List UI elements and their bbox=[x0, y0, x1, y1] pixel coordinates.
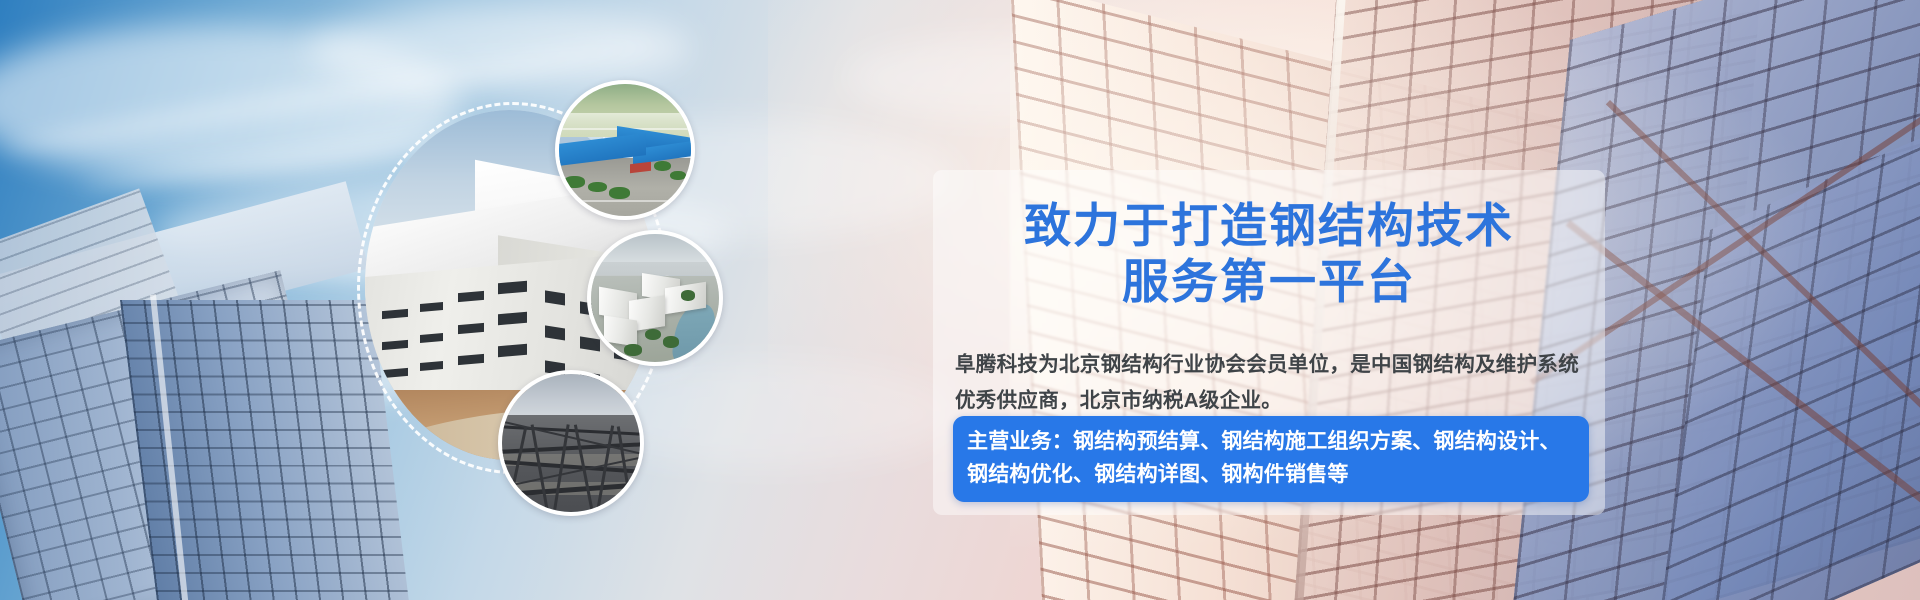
page-title: 致力于打造钢结构技术 服务第一平台 bbox=[933, 199, 1605, 311]
headline-line-1: 致力于打造钢结构技术 bbox=[1024, 201, 1514, 253]
hero-banner: 致力于打造钢结构技术 服务第一平台 阜腾科技为北京钢结构行业协会会员单位，是中国… bbox=[0, 0, 1920, 600]
tree-cluster bbox=[681, 290, 695, 300]
headline-line-2: 服务第一平台 bbox=[933, 255, 1605, 311]
photo-collage bbox=[355, 55, 755, 515]
road-line bbox=[572, 200, 683, 202]
tree-cluster bbox=[588, 182, 606, 193]
tree-cluster bbox=[654, 161, 671, 172]
steel-truss-structure-photo bbox=[498, 370, 644, 516]
campus-complex-aerial-photo bbox=[587, 230, 723, 366]
tree-cluster bbox=[663, 336, 680, 348]
tree-cluster bbox=[624, 344, 642, 356]
blue-roof-factory-aerial-photo bbox=[555, 80, 695, 220]
tree-cluster bbox=[609, 187, 630, 199]
main-business-badge: 主营业务：钢结构预结算、钢结构施工组织方案、钢结构设计、钢结构优化、钢结构详图、… bbox=[953, 416, 1589, 502]
tree-cluster bbox=[670, 171, 686, 180]
tree-cluster bbox=[564, 176, 585, 188]
company-description: 阜腾科技为北京钢结构行业协会会员单位，是中国钢结构及维护系统优秀供应商，北京市纳… bbox=[955, 347, 1587, 419]
photo-sky bbox=[502, 374, 640, 421]
